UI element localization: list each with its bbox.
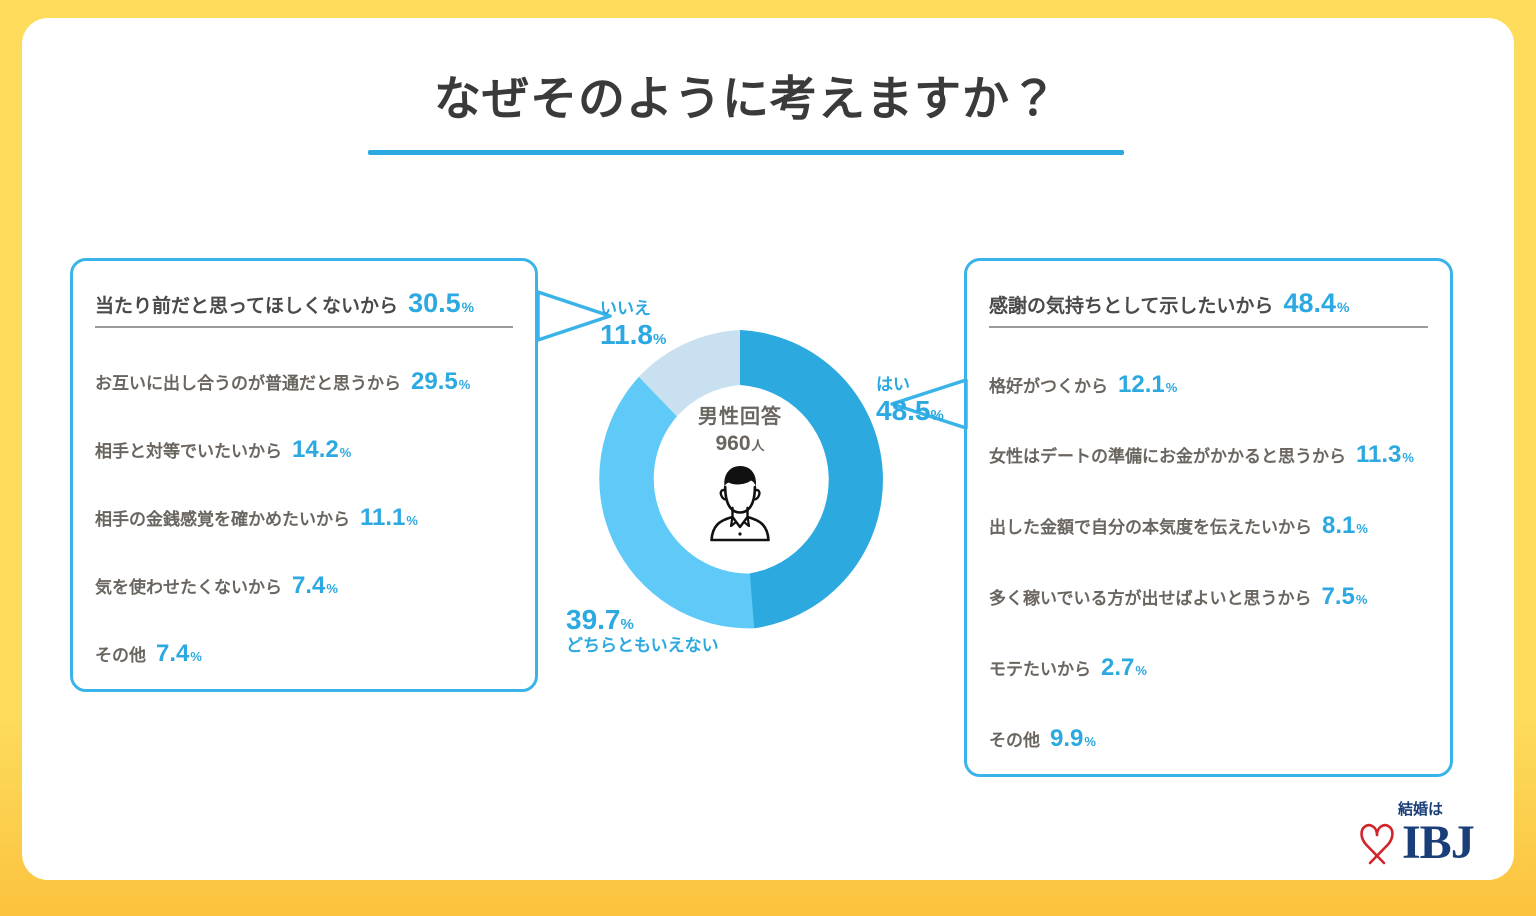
segment-value-line: 11.8% bbox=[600, 319, 666, 351]
percent-sign: % bbox=[1337, 299, 1349, 315]
reason-value: 30.5 bbox=[408, 287, 461, 319]
reason-label: お互いに出し合うのが普通だと思うから bbox=[95, 374, 401, 394]
segment-value: 39.7 bbox=[566, 604, 621, 635]
reason-value: 14.2 bbox=[292, 436, 339, 465]
list-item: その他 7.4 % bbox=[95, 640, 513, 669]
donut-label-iie: いいえ 11.8% bbox=[600, 300, 666, 351]
percent-sign: % bbox=[340, 445, 352, 460]
segment-value: 48.5 bbox=[876, 395, 931, 426]
list-item: その他 9.9 % bbox=[989, 725, 1428, 754]
reason-value: 7.5 bbox=[1322, 583, 1355, 612]
segment-name: いいえ bbox=[600, 300, 666, 319]
percent-sign: % bbox=[1402, 450, 1414, 465]
list-item: お互いに出し合うのが普通だと思うから 29.5 % bbox=[95, 368, 513, 397]
percent-sign: % bbox=[462, 299, 474, 315]
percent-sign: % bbox=[1135, 663, 1147, 678]
percent-sign: % bbox=[621, 616, 634, 633]
reason-value: 12.1 bbox=[1118, 371, 1165, 400]
percent-sign: % bbox=[653, 331, 666, 348]
reason-label: 相手の金銭感覚を確かめたいから bbox=[95, 510, 350, 530]
reason-value: 7.4 bbox=[292, 572, 325, 601]
list-item: 気を使わせたくないから 7.4 % bbox=[95, 572, 513, 601]
percent-sign: % bbox=[1166, 380, 1178, 395]
percent-sign: % bbox=[406, 513, 418, 528]
percent-sign: % bbox=[459, 377, 471, 392]
reason-label: モテたいから bbox=[989, 660, 1091, 680]
segment-value-line: 39.7% bbox=[566, 604, 719, 636]
list-item: 女性はデートの準備にお金がかかると思うから 11.3 % bbox=[989, 441, 1428, 470]
list-item: 相手の金銭感覚を確かめたいから 11.1 % bbox=[95, 504, 513, 533]
reason-label: 女性はデートの準備にお金がかかると思うから bbox=[989, 447, 1346, 467]
percent-sign: % bbox=[1084, 734, 1096, 749]
reason-label: その他 bbox=[989, 731, 1040, 751]
reasons-panel-iie: 当たり前だと思ってほしくないから 30.5 % お互いに出し合うのが普通だと思う… bbox=[70, 258, 538, 692]
reason-label: 相手と対等でいたいから bbox=[95, 442, 282, 462]
logo-text: IBJ bbox=[1402, 819, 1474, 867]
list-item: 相手と対等でいたいから 14.2 % bbox=[95, 436, 513, 465]
reason-value: 7.4 bbox=[156, 640, 189, 669]
reason-value: 11.3 bbox=[1356, 441, 1401, 470]
percent-sign: % bbox=[931, 407, 944, 424]
reason-label: 当たり前だと思ってほしくないから bbox=[95, 296, 398, 319]
list-item: 格好がつくから 12.1 % bbox=[989, 371, 1428, 400]
page-title: なぜそのように考えますか？ bbox=[0, 72, 1492, 126]
percent-sign: % bbox=[326, 581, 338, 596]
list-item: 当たり前だと思ってほしくないから 30.5 % bbox=[95, 287, 513, 328]
segment-name: はい bbox=[876, 376, 944, 395]
list-item: 出した金額で自分の本気度を伝えたいから 8.1 % bbox=[989, 512, 1428, 541]
donut-label-hai: はい 48.5% bbox=[876, 376, 944, 427]
reason-label: 多く稼いでいる方が出せばよいと思うから bbox=[989, 589, 1312, 609]
reason-label: 感謝の気持ちとして示したいから bbox=[989, 296, 1273, 319]
reason-value: 9.9 bbox=[1050, 725, 1083, 754]
reason-label: 気を使わせたくないから bbox=[95, 578, 282, 598]
reason-value: 8.1 bbox=[1322, 512, 1355, 541]
infographic-canvas: なぜそのように考えますか？ 当たり前だと思ってほしくないから 30.5 % お互… bbox=[0, 0, 1536, 916]
reasons-list-hai: 感謝の気持ちとして示したいから 48.4 % 格好がつくから 12.1 % 女性… bbox=[967, 261, 1450, 774]
segment-name: どちらともいえない bbox=[566, 637, 719, 656]
title-underline bbox=[368, 150, 1124, 155]
reason-value: 29.5 bbox=[411, 368, 458, 397]
reason-label: 格好がつくから bbox=[989, 377, 1108, 397]
percent-sign: % bbox=[1356, 521, 1368, 536]
reasons-list-iie: 当たり前だと思ってほしくないから 30.5 % お互いに出し合うのが普通だと思う… bbox=[73, 261, 535, 689]
percent-sign: % bbox=[1356, 592, 1368, 607]
reason-value: 2.7 bbox=[1101, 654, 1134, 683]
reason-label: 出した金額で自分の本気度を伝えたいから bbox=[989, 518, 1312, 538]
reason-value: 48.4 bbox=[1283, 287, 1336, 319]
reason-label: その他 bbox=[95, 646, 146, 666]
percent-sign: % bbox=[190, 649, 202, 664]
ibj-logo: 結婚は IBJ bbox=[1352, 798, 1492, 876]
segment-value: 11.8 bbox=[600, 319, 653, 350]
logo-mark: IBJ bbox=[1352, 818, 1474, 868]
reasons-panel-hai: 感謝の気持ちとして示したいから 48.4 % 格好がつくから 12.1 % 女性… bbox=[964, 258, 1453, 777]
list-item: 多く稼いでいる方が出せばよいと思うから 7.5 % bbox=[989, 583, 1428, 612]
heart-icon bbox=[1352, 818, 1402, 868]
donut-segment-hai bbox=[740, 330, 883, 628]
donut-chart-svg bbox=[588, 328, 892, 632]
title-block: なぜそのように考えますか？ bbox=[0, 72, 1492, 155]
list-item: 感謝の気持ちとして示したいから 48.4 % bbox=[989, 287, 1428, 328]
list-item: モテたいから 2.7 % bbox=[989, 654, 1428, 683]
reason-value: 11.1 bbox=[360, 504, 405, 533]
donut-chart: 男性回答 960 人 bbox=[588, 328, 892, 632]
segment-value-line: 48.5% bbox=[876, 395, 944, 427]
donut-label-dochira: 39.7% どちらともいえない bbox=[566, 604, 719, 656]
